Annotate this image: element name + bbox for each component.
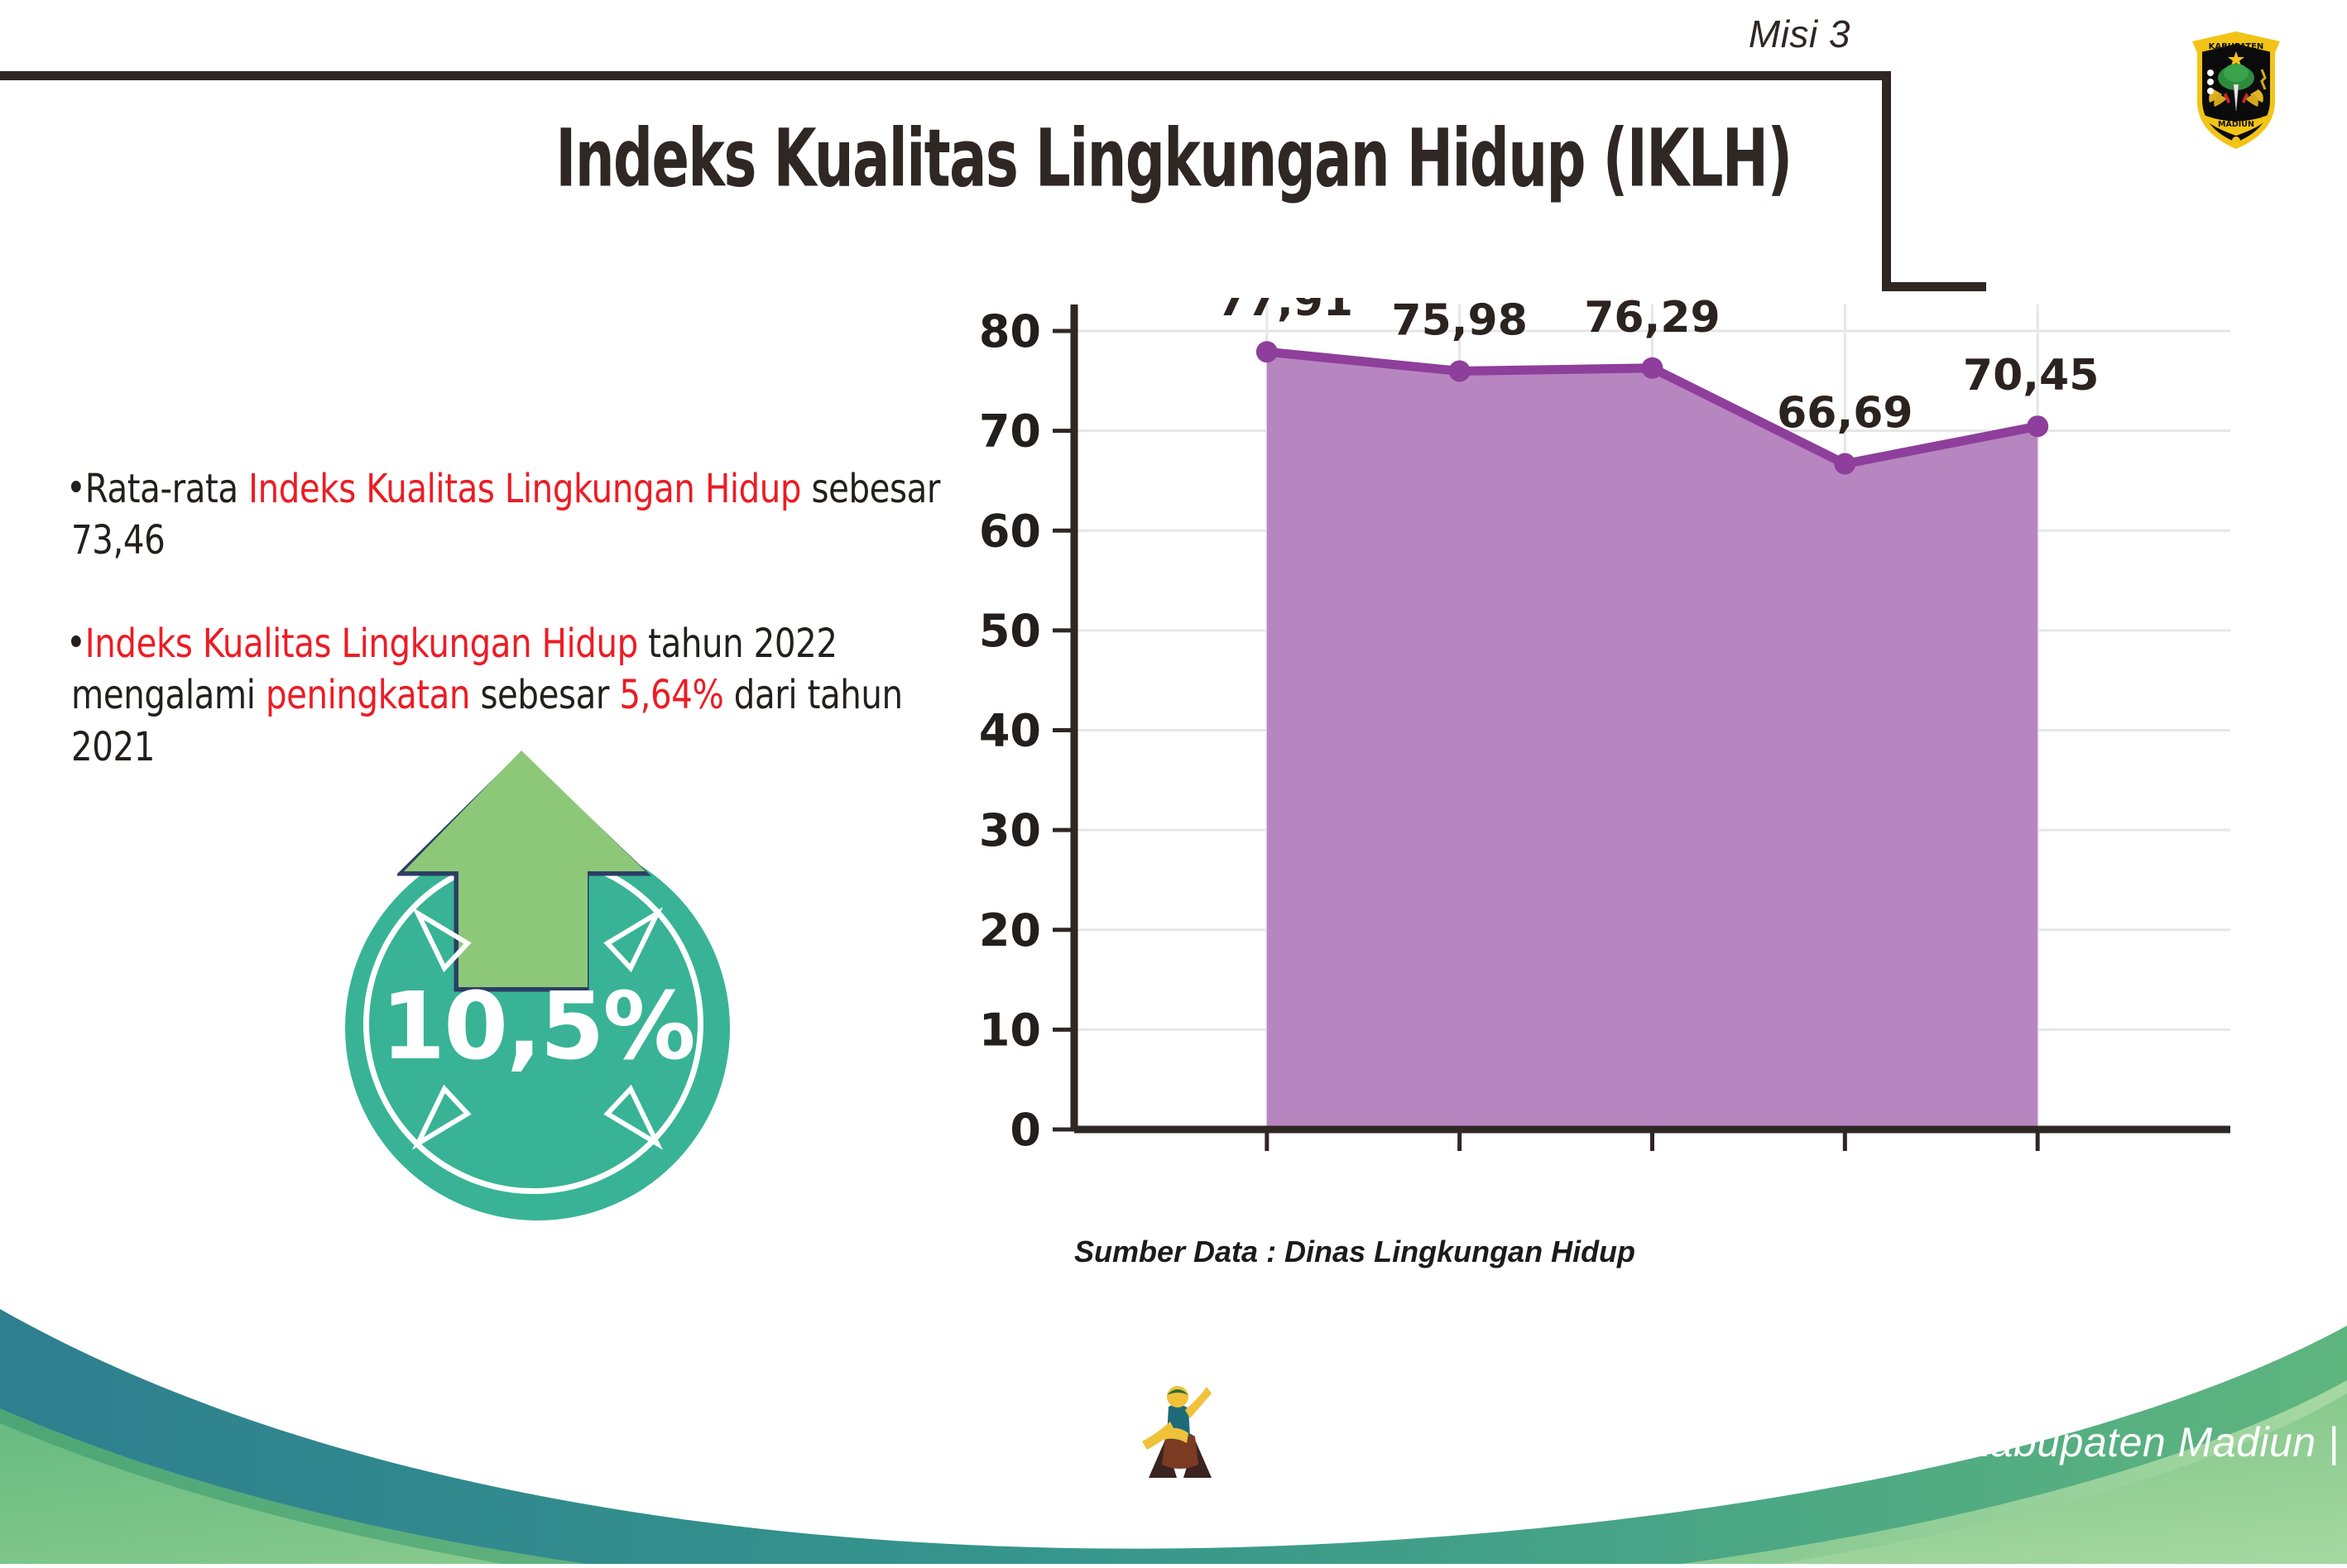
kabupaten-madiun-emblem-icon: KABUPATEN MADIUN (2182, 18, 2290, 155)
header-divider-bottom (1882, 282, 1986, 291)
svg-text:KABUPATEN: KABUPATEN (2209, 42, 2264, 51)
header-divider-horizontal (0, 71, 1891, 80)
chart-area-series (1267, 352, 2037, 1129)
increase-badge: 10,5% (324, 749, 788, 1212)
y-tick-label: 50 (979, 605, 1041, 657)
badge-value: 10,5% (345, 981, 730, 1073)
y-tick-label: 10 (979, 1004, 1041, 1056)
data-point-marker (1449, 360, 1471, 381)
bullet-item: Rata-rata Indeks Kualitas Lingkungan Hid… (71, 463, 968, 567)
bullet-dot-icon (71, 481, 81, 492)
data-point-marker (2027, 415, 2048, 437)
y-tick-label: 60 (979, 505, 1041, 557)
y-tick-label: 40 (979, 705, 1041, 757)
data-point-label: 77,91 (1217, 298, 1353, 326)
bullet-text-1: Rata-rata Indeks Kualitas Lingkungan Hid… (71, 466, 940, 563)
bullet-list: Rata-rata Indeks Kualitas Lingkungan Hid… (71, 463, 965, 773)
data-point-label: 76,29 (1584, 298, 1720, 343)
y-tick-label: 0 (1010, 1104, 1041, 1156)
data-point-label: 66,69 (1777, 389, 1913, 439)
footer: Media Infografis Data Statistik Sektoral… (0, 1291, 2347, 1564)
data-point-label: 70,45 (1963, 351, 2099, 400)
y-tick-label: 20 (979, 904, 1041, 957)
chart-source-note: Sumber Data : Dinas Lingkungan Hidup (1074, 1235, 1635, 1269)
data-point-marker (1642, 357, 1663, 379)
area-fill (1267, 352, 2037, 1129)
data-point-label: 75,98 (1391, 298, 1527, 345)
misi-label: Misi 3 (1749, 12, 1850, 56)
y-tick-label: 70 (979, 405, 1041, 458)
footer-text: Media Infografis Data Statistik Sektoral… (1221, 1418, 2340, 1466)
svg-text:MADIUN: MADIUN (2218, 120, 2254, 129)
chart-svg: 01020304050607080 20182019202020212022 7… (952, 298, 2243, 1225)
y-tick-label: 80 (979, 305, 1041, 357)
chart-y-tick-labels: 01020304050607080 (979, 305, 1041, 1156)
dancer-statistics-logo-icon (1140, 1375, 1220, 1483)
data-point-marker (1256, 341, 1278, 362)
y-tick-label: 30 (979, 804, 1041, 856)
page-title: Indeks Kualitas Lingkungan Hidup (IKLH) (258, 113, 2089, 205)
bullet-dot-icon (71, 635, 81, 647)
bullet-text-2: Indeks Kualitas Lingkungan Hidup tahun 2… (71, 621, 903, 770)
iklh-area-chart: 01020304050607080 20182019202020212022 7… (952, 298, 2243, 1225)
data-point-marker (1834, 453, 1855, 475)
